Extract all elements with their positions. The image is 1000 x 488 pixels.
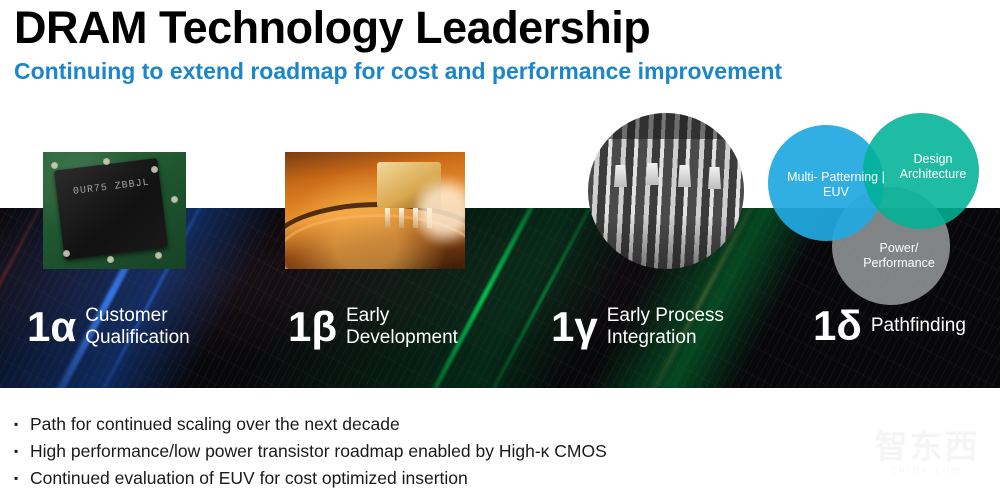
node-greek-label: 1α (27, 306, 76, 348)
watermark-url: zhidx.com (864, 465, 990, 476)
pcb-pad (151, 166, 158, 173)
slide-root: DRAM Technology Leadership Continuing to… (0, 0, 1000, 488)
pcb-pad (171, 196, 178, 203)
wafer-prober-photo (285, 152, 465, 269)
pcb-pad (51, 162, 58, 169)
bullet-item: ▪ Continued evaluation of EUV for cost o… (14, 466, 844, 488)
pcb-pad (103, 158, 110, 165)
dram-package-photo: 0UR75 ZBBJL (43, 152, 186, 269)
pcb-pad (155, 252, 162, 259)
bullet-marker-icon: ▪ (14, 439, 30, 464)
pcb-pad (63, 250, 70, 257)
node-greek-label: 1γ (551, 306, 598, 348)
pcb-pad (107, 256, 114, 263)
roadmap-node-1-gamma: 1γ Early Process Integration (551, 305, 724, 349)
tem-top-band (588, 113, 744, 139)
roadmap-node-1-delta: 1δ Pathfinding (813, 305, 966, 347)
venn-label-design-architecture: Design Architecture (875, 152, 991, 182)
node-greek-label: 1β (288, 306, 337, 348)
watermark: 智东西 zhidx.com (864, 429, 990, 476)
tem-bottom-shade (588, 217, 744, 269)
tem-cross-section-photo (588, 113, 744, 269)
bullet-text: Path for continued scaling over the next… (30, 412, 400, 437)
watermark-logo: 智东西 (864, 429, 990, 465)
page-title: DRAM Technology Leadership (14, 2, 650, 54)
tem-cell-cap (678, 165, 691, 187)
probe-needle (385, 208, 390, 228)
bullet-marker-icon: ▪ (14, 466, 30, 488)
bullet-item: ▪ High performance/low power transistor … (14, 439, 844, 464)
venn-circle-multi-patterning-euv: Multi- Patterning | EUV (768, 125, 884, 241)
node-greek-label: 1δ (813, 305, 862, 347)
bullet-item: ▪ Path for continued scaling over the ne… (14, 412, 844, 437)
page-subtitle: Continuing to extend roadmap for cost an… (14, 57, 782, 85)
roadmap-node-1-alpha: 1α Customer Qualification (27, 305, 190, 349)
roadmap-node-1-beta: 1β Early Development (288, 305, 458, 349)
bullet-text: High performance/low power transistor ro… (30, 439, 607, 464)
tem-cell-cap (646, 163, 659, 185)
node-caption: Pathfinding (871, 315, 966, 337)
bullet-list: ▪ Path for continued scaling over the ne… (14, 412, 844, 488)
technology-venn-diagram: Power/ Performance Multi- Patterning | E… (762, 110, 994, 306)
bullet-text: Continued evaluation of EUV for cost opt… (30, 466, 468, 488)
dram-chip-body (54, 158, 168, 260)
node-caption: Customer Qualification (85, 305, 190, 349)
node-caption: Early Process Integration (607, 305, 724, 349)
probe-needle (399, 208, 404, 228)
tem-cell-cap (614, 165, 627, 187)
node-caption: Early Development (346, 305, 458, 349)
tem-cell-cap (708, 167, 721, 189)
venn-label-power-performance: Power/ Performance (840, 241, 958, 271)
venn-circle-design-architecture: Design Architecture (863, 113, 979, 229)
bullet-marker-icon: ▪ (14, 412, 30, 437)
